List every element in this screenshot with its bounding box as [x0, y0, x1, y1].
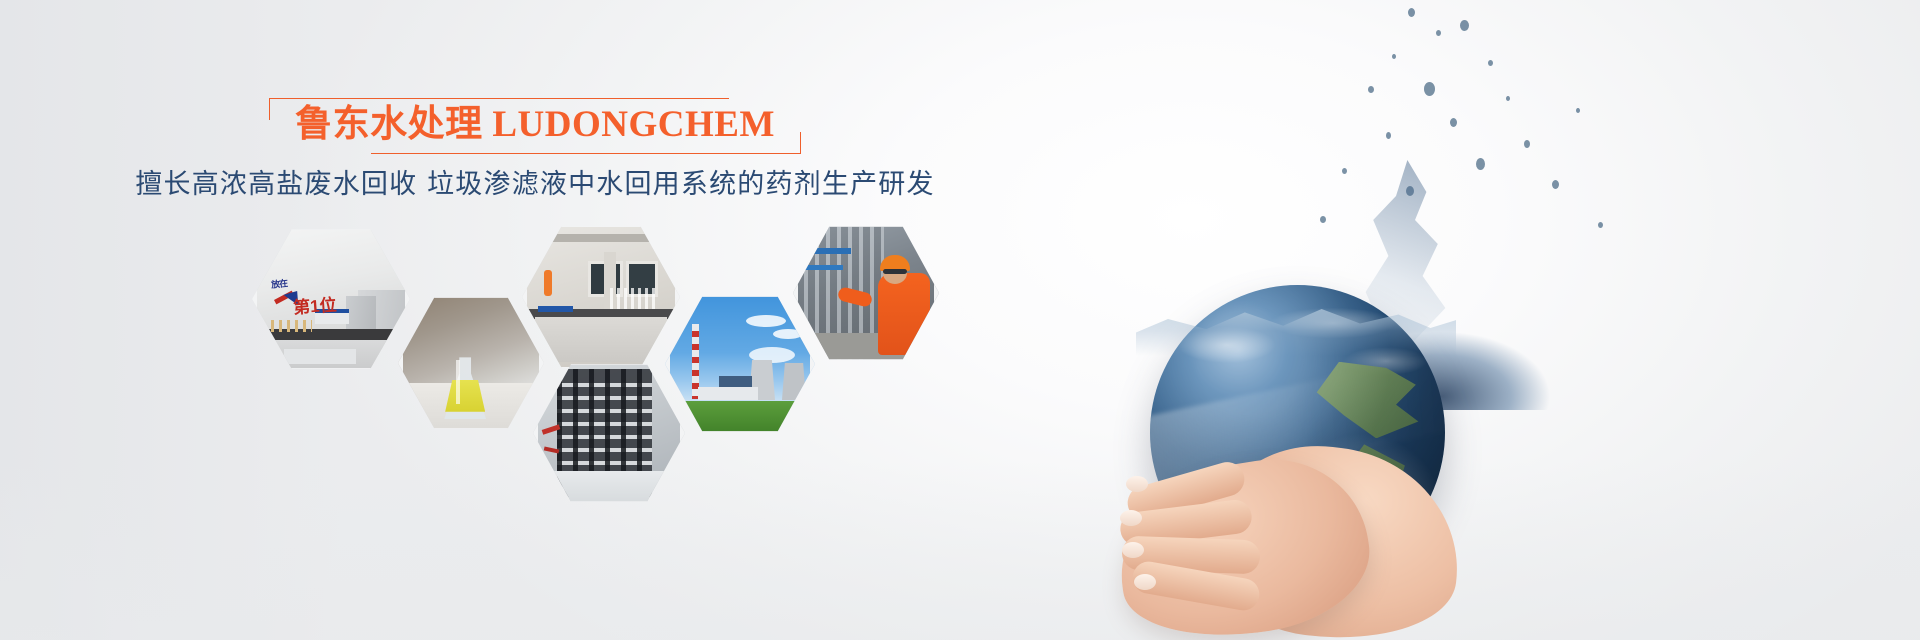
hero-banner: 鲁东水处理 LUDONGCHEM 擅长高浓高盐废水回收 垃圾渗滤液中水回用系统的… — [0, 0, 1920, 640]
bracket-bottom-right-decoration — [371, 132, 801, 154]
fingernail — [1120, 510, 1142, 526]
fingernail — [1126, 476, 1148, 492]
hands-holding-globe — [1060, 430, 1490, 640]
fingernail — [1122, 542, 1144, 558]
bracket-top-left-decoration — [269, 98, 729, 120]
hex-membrane-skid[interactable] — [533, 360, 685, 506]
headline-block: 鲁东水处理 LUDONGCHEM 擅长高浓高盐废水回收 垃圾渗滤液中水回用系统的… — [0, 98, 1070, 204]
fingernail — [1134, 574, 1156, 590]
hex-yellow-reagent-flask[interactable] — [398, 293, 544, 433]
wall-slogan-rank: 第1位 — [292, 290, 337, 318]
hex-lab-equipment-room[interactable]: 放在 第1位 — [252, 225, 410, 373]
banner-subtitle: 擅长高浓高盐废水回收 垃圾渗滤液中水回用系统的药剂生产研发 — [0, 166, 1070, 204]
hexagon-photo-cluster: 放在 第1位 — [0, 0, 1070, 640]
water-globe-artwork — [1040, 0, 1920, 640]
wall-slogan-top: 放在 — [270, 276, 287, 291]
hex-laboratory-glassware[interactable] — [522, 222, 680, 372]
brand-title-wrap: 鲁东水处理 LUDONGCHEM — [269, 98, 801, 154]
hex-worker-orange-uniform[interactable] — [793, 222, 939, 364]
hex-power-plant-cooling-towers[interactable] — [665, 292, 815, 436]
